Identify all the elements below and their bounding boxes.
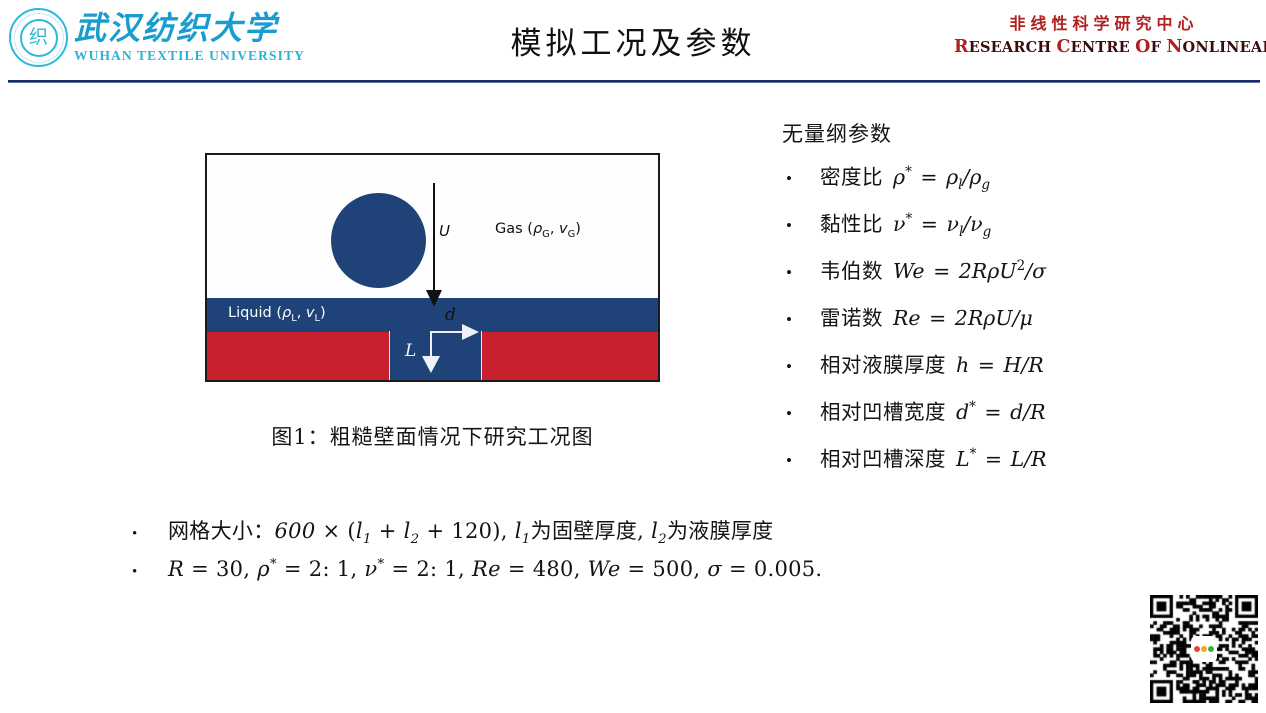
simulation-settings-rows: •网格大小：600 × (l1 + l2 + 120), l1为固壁厚度, l2… (128, 515, 1128, 599)
simulation-settings-list: •网格大小：600 × (l1 + l2 + 120), l1为固壁厚度, l2… (128, 515, 1128, 599)
schematic-figure: U Gas (ρG, vG) Liquid (ρL, vL) d L (205, 153, 660, 382)
parameter-row: •相对凹槽深度L* = L/R (782, 442, 1252, 489)
liquid-label: Liquid (ρL, vL) (228, 305, 326, 324)
figure-caption: 图1：粗糙壁面情况下研究工况图 (205, 421, 660, 451)
gas-rho: ρ (533, 221, 542, 237)
bullet-icon: • (782, 358, 820, 375)
gas-label-prefix: Gas ( (495, 221, 533, 237)
bullet-icon: • (782, 311, 820, 328)
parameter-equation: h = H/R (956, 353, 1044, 377)
bullet-icon: • (782, 170, 820, 187)
parameter-equation: Re = 2RρU/μ (893, 306, 1033, 330)
liquid-close: ) (320, 305, 326, 321)
liquid-sep: , (297, 305, 306, 321)
bullet-icon: • (128, 527, 168, 542)
parameter-label: 相对液膜厚度 (820, 348, 946, 378)
liquid-rho: ρ (282, 305, 291, 321)
parameter-label: 相对凹槽深度 (820, 442, 946, 472)
parameter-equation: We = 2RρU2/σ (893, 258, 1046, 283)
parameter-row: •相对液膜厚度h = H/R (782, 348, 1252, 395)
gas-v: v (559, 221, 568, 237)
parameters-heading: 无量纲参数 (782, 118, 1252, 148)
parameter-label: 韦伯数 (820, 254, 883, 284)
qr-center-logo-icon (1191, 636, 1217, 662)
settings-row: •网格大小：600 × (l1 + l2 + 120), l1为固壁厚度, l2… (128, 515, 1128, 557)
bullet-icon: • (128, 565, 168, 580)
groove-depth-arrow-icon (430, 331, 432, 357)
header-divider (8, 80, 1260, 83)
research-centre-wordmark: 非线性科学研究中心 RESEARCH CENTRE OF NONLINEAR S… (954, 14, 1254, 57)
gas-close: ) (575, 221, 581, 237)
dimensionless-parameters-list: 无量纲参数 •密度比ρ* = ρl/ρg•黏性比ν* = νl/νg•韦伯数We… (782, 118, 1252, 489)
bullet-icon: • (782, 452, 820, 469)
parameter-row: •相对凹槽宽度d* = d/R (782, 395, 1252, 442)
parameter-label: 雷诺数 (820, 301, 883, 331)
velocity-arrow-icon (433, 183, 435, 291)
parameter-row: •密度比ρ* = ρl/ρg (782, 160, 1252, 207)
research-centre-name-cn: 非线性科学研究中心 (954, 14, 1254, 34)
parameter-equation: L* = L/R (956, 446, 1047, 471)
research-centre-name-en: RESEARCH CENTRE OF NONLINEAR SCIENCE (954, 38, 1254, 57)
slide-header: 织 武汉纺织大学 WUHAN TEXTILE UNIVERSITY 模拟工况及参… (0, 0, 1266, 82)
parameter-equation: d* = d/R (956, 399, 1046, 424)
bullet-icon: • (782, 264, 820, 281)
parameter-label: 密度比 (820, 160, 883, 190)
liquid-label-prefix: Liquid ( (228, 305, 282, 321)
settings-text: 网格大小：600 × (l1 + l2 + 120), l1为固壁厚度, l2为… (168, 515, 773, 547)
groove-depth-label: L (405, 341, 416, 361)
qr-code[interactable] (1150, 595, 1258, 703)
u-label: U (439, 222, 450, 240)
liquid-v: v (306, 305, 315, 321)
parameters-rows: •密度比ρ* = ρl/ρg•黏性比ν* = νl/νg•韦伯数We = 2Rρ… (782, 160, 1252, 489)
droplet-shape (331, 193, 426, 288)
parameter-label: 相对凹槽宽度 (820, 395, 946, 425)
bullet-icon: • (782, 217, 820, 234)
parameter-row: •黏性比ν* = νl/νg (782, 207, 1252, 254)
groove-width-label: d (445, 305, 456, 325)
settings-row: •R = 30, ρ* = 2: 1, ν* = 2: 1, Re = 480,… (128, 557, 1128, 599)
parameter-row: •雷诺数Re = 2RρU/μ (782, 301, 1252, 348)
settings-text: R = 30, ρ* = 2: 1, ν* = 2: 1, Re = 480, … (168, 557, 822, 581)
gas-label: Gas (ρG, vG) (495, 221, 581, 240)
parameter-row: •韦伯数We = 2RρU2/σ (782, 254, 1252, 301)
groove-width-arrow-icon (430, 331, 462, 333)
gas-sep: , (550, 221, 559, 237)
bullet-icon: • (782, 405, 820, 422)
gas-rho-sub: G (542, 229, 550, 240)
parameter-equation: ν* = νl/νg (893, 211, 991, 240)
parameter-equation: ρ* = ρl/ρg (893, 164, 990, 193)
parameter-label: 黏性比 (820, 207, 883, 237)
